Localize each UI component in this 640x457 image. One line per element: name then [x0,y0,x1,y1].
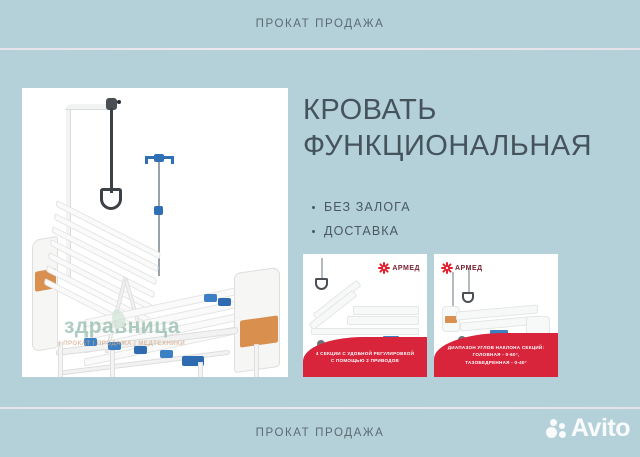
header-title: ПРОКАТ ПРОДАЖА [256,18,385,30]
list-item: ДОСТАВКА [310,224,530,238]
armed-brand-label: АРМЕД [455,265,483,272]
mini-deck-slat-2 [347,316,419,325]
feature-label: БЕЗ ЗАЛОГА [324,200,411,214]
info-card-sections[interactable]: АРМЕД 4 СЕКЦИИ С УДОБНОЙ РЕГУЛИРОВКОЙ С … [303,254,427,377]
header-divider [0,48,640,50]
page-title: КРОВАТЬ ФУНКЦИОНАЛЬНАЯ [303,92,629,165]
armed-logo: АРМЕД [378,262,420,274]
footboard-wood-panel [240,315,278,347]
trapeze-handle-icon [100,188,122,210]
adjust-grip-2 [108,342,121,350]
card-banner-line-1: ДИАПАЗОН УГЛОВ НАКЛОНА СЕКЦИЙ: [448,344,545,351]
armed-star-icon [441,262,453,274]
footer-band: ПРОКАТ ПРОДАЖА [0,409,640,457]
avito-wordmark: Avito [571,416,630,441]
headline-line-2: ФУНКЦИОНАЛЬНАЯ [303,128,629,164]
iv-hook-left-icon [145,156,148,164]
card-banner-line-2: С ПОМОЩЬЮ 2 ПРИВОДОВ [331,357,399,364]
bed-leg-2 [110,350,115,377]
feature-list: БЕЗ ЗАЛОГА ДОСТАВКА [310,200,530,248]
armed-logo: АРМЕД [441,262,483,274]
iv-clamp [154,206,163,215]
mini-trapeze-handle-icon [315,278,328,290]
list-item: БЕЗ ЗАЛОГА [310,200,530,214]
bed-leg-4 [254,344,259,377]
mini-deck-slat-1 [353,306,419,315]
header-band: ПРОКАТ ПРОДАЖА [0,0,640,48]
iv-knob [154,154,164,162]
trapeze-strap [110,108,113,193]
mini-trapeze-handle-icon [462,292,474,303]
product-photo[interactable]: здравница | ПРОКАТ | ПРОДАЖА | МЕДТЕХНИК… [22,88,288,377]
card-banner: 4 СЕКЦИИ С УДОБНОЙ РЕГУЛИРОВКОЙ С ПОМОЩЬ… [303,337,427,377]
bed-leg-1 [58,342,63,377]
adjust-grip-4 [160,350,173,358]
mini-frame-rail [311,328,419,335]
card-banner: ДИАПАЗОН УГЛОВ НАКЛОНА СЕКЦИЙ: ГОЛОВНАЯ … [434,333,558,377]
card-banner-line-3: ТАЗОБЕДРЕННАЯ - 0-40° [465,359,527,366]
mini-head-post [452,272,454,306]
headline-line-1: КРОВАТЬ [303,94,437,126]
adjust-grip-3 [134,346,147,354]
footer-title: ПРОКАТ ПРОДАЖА [256,427,385,439]
info-card-angles[interactable]: АРМЕД ДИАПАЗОН УГЛОВ НАКЛОНА СЕКЦИЙ: ГОЛ… [434,254,558,377]
mini-trapeze-post [321,258,323,280]
adjust-grip-1 [84,338,97,346]
avito-watermark: Avito [546,416,630,441]
adjust-grip-6 [204,294,217,302]
iv-hook-right-icon [171,156,174,164]
armed-brand-label: АРМЕД [392,265,420,272]
armed-star-icon [378,262,390,274]
card-banner-line-2: ГОЛОВНАЯ - 0-60°, [473,351,520,358]
avito-dots-icon [546,417,568,441]
card-banner-line-1: 4 СЕКЦИИ С УДОБНОЙ РЕГУЛИРОВКОЙ [316,350,414,357]
feature-label: ДОСТАВКА [324,224,399,238]
adjust-grip-7 [218,298,231,306]
advertisement-canvas: ПРОКАТ ПРОДАЖА [0,0,640,457]
bed-leg-3 [198,362,203,377]
